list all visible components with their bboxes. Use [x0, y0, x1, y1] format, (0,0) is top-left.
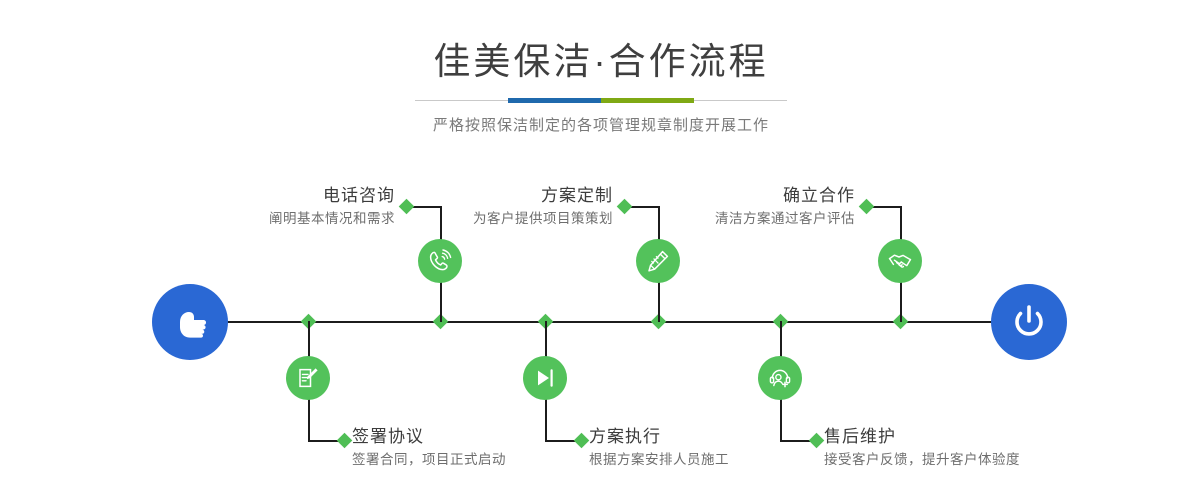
step-title-2: 签署协议 — [352, 426, 506, 448]
step-desc-5: 清洁方案通过客户评估 — [683, 209, 855, 229]
timeline-end-node — [991, 284, 1067, 360]
step-label-6: 售后维护 接受客户反馈，提升客户体验度 — [824, 426, 1020, 470]
step-icon-6 — [758, 356, 802, 400]
step-icon-3 — [636, 239, 680, 283]
pointing-hand-icon — [170, 302, 210, 342]
label-marker-step-1 — [399, 199, 415, 215]
step-label-3: 方案定制 为客户提供项目策策划 — [441, 185, 613, 229]
step-desc-1: 阐明基本情况和需求 — [223, 209, 395, 229]
step-desc-4: 根据方案安排人员施工 — [589, 450, 729, 470]
timeline-start-node — [152, 284, 228, 360]
label-marker-step-3 — [617, 199, 633, 215]
phone-call-icon — [427, 248, 453, 274]
customer-service-add-icon — [767, 365, 793, 391]
step-desc-3: 为客户提供项目策策划 — [441, 209, 613, 229]
step-label-4: 方案执行 根据方案安排人员施工 — [589, 426, 729, 470]
document-edit-icon — [295, 365, 321, 391]
step-icon-2 — [286, 356, 330, 400]
label-marker-step-2 — [337, 433, 353, 449]
handshake-icon — [887, 248, 913, 274]
label-marker-step-4 — [574, 433, 590, 449]
timeline: 电话咨询 阐明基本情况和需求 签署协议 签署合同，项目正式启动 — [0, 0, 1202, 502]
step-title-6: 售后维护 — [824, 426, 1020, 448]
power-icon — [1008, 301, 1050, 343]
step-title-4: 方案执行 — [589, 426, 729, 448]
flow-diagram-page: 佳美保洁·合作流程 严格按照保洁制定的各项管理规章制度开展工作 — [0, 0, 1202, 502]
step-title-3: 方案定制 — [441, 185, 613, 207]
step-label-1: 电话咨询 阐明基本情况和需求 — [223, 185, 395, 229]
step-desc-6: 接受客户反馈，提升客户体验度 — [824, 450, 1020, 470]
step-desc-2: 签署合同，项目正式启动 — [352, 450, 506, 470]
step-icon-4 — [523, 356, 567, 400]
step-icon-1 — [418, 239, 462, 283]
pencil-ruler-icon — [645, 248, 671, 274]
step-icon-5 — [878, 239, 922, 283]
label-marker-step-6 — [809, 433, 825, 449]
play-execute-icon — [532, 365, 558, 391]
step-label-2: 签署协议 签署合同，项目正式启动 — [352, 426, 506, 470]
step-title-5: 确立合作 — [683, 185, 855, 207]
step-title-1: 电话咨询 — [223, 185, 395, 207]
label-marker-step-5 — [859, 199, 875, 215]
step-label-5: 确立合作 清洁方案通过客户评估 — [683, 185, 855, 229]
